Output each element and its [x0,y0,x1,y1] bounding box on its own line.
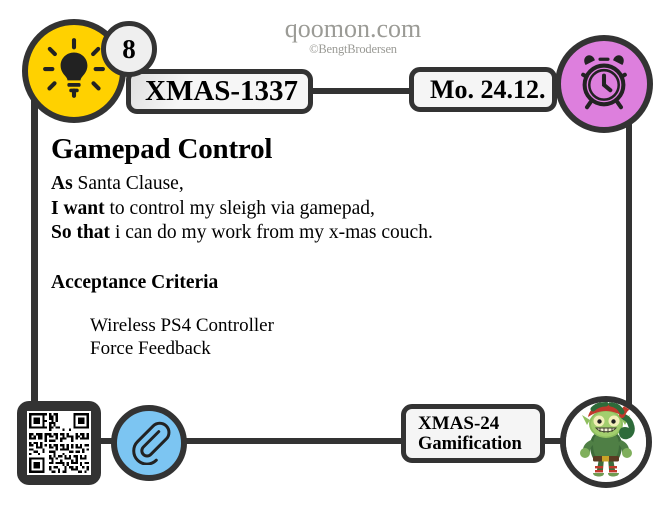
story-line-role: As Santa Clause, [51,172,611,197]
issue-id-badge[interactable]: XMAS-1337 [126,69,313,114]
story-sothat-value: i can do my work from my x-mas couch. [110,222,433,243]
watermark: qoomon.com ©BengtBrodersen [258,16,448,56]
card-border-right [625,108,632,426]
page-title: Gamepad Control [51,133,611,166]
user-story-card: qoomon.com ©BengtBrodersen [0,0,663,506]
acceptance-criteria-list: Wireless PS4 Controller Force Feedback [90,314,611,362]
story-role-value: Santa Clause, [73,173,184,194]
story-line-sothat: So that i can do my work from my x-mas c… [51,221,611,246]
card-border-bottom-middle [168,437,408,444]
epic-id-label: XMAS-24 [418,413,499,434]
list-item: Force Feedback [90,337,611,361]
assignee-avatar[interactable] [560,396,652,488]
epic-name-label: Gamification [418,434,522,455]
story-sothat-label: So that [51,222,110,243]
acceptance-criteria-heading: Acceptance Criteria [51,272,611,294]
card-content: Gamepad Control As Santa Clause, I want … [51,133,611,361]
lightbulb-icon [41,36,107,107]
elf-avatar-icon [566,400,646,485]
watermark-copyright: ©BengtBrodersen [258,43,448,56]
due-date-button[interactable] [555,35,653,133]
connector-id-to-date [305,88,415,94]
story-points-value: 8 [122,34,136,65]
user-story-text: As Santa Clause, I want to control my sl… [51,172,611,246]
list-item: Wireless PS4 Controller [90,314,611,338]
epic-badge[interactable]: XMAS-24 Gamification [401,404,545,463]
card-border-left [31,96,38,418]
story-want-value: to control my sleigh via gamepad, [105,198,375,219]
story-line-want: I want to control my sleigh via gamepad, [51,197,611,222]
due-date-badge[interactable]: Mo. 24.12. [409,67,557,112]
story-want-label: I want [51,198,105,219]
story-points-badge[interactable]: 8 [101,21,157,77]
qr-code-icon [27,411,91,475]
attachment-button[interactable] [111,405,187,481]
story-role-label: As [51,173,73,194]
due-date-label: Mo. 24.12. [430,75,546,105]
qr-code-button[interactable] [17,401,101,485]
watermark-domain: qoomon.com [258,16,448,42]
issue-id-label: XMAS-1337 [145,75,298,108]
alarm-clock-icon [573,51,635,118]
paperclip-icon [125,417,173,470]
